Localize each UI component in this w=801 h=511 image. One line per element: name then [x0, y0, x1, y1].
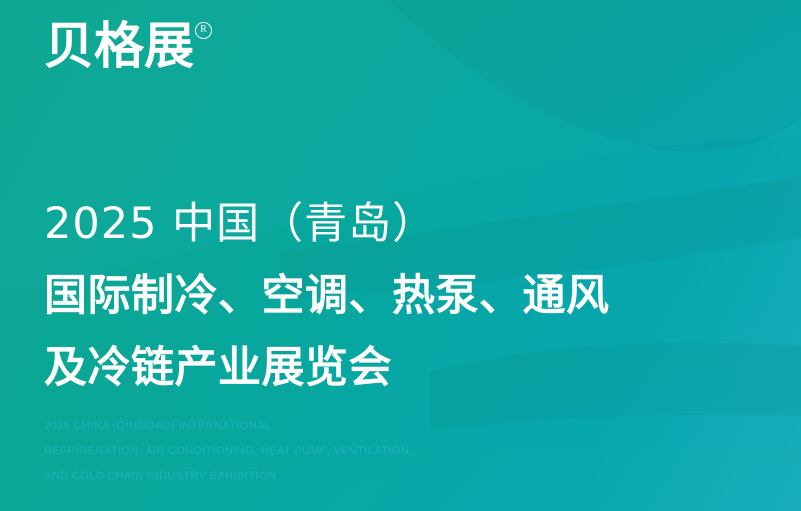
page-title-line-3: 及冷链产业展览会 — [44, 332, 744, 404]
page-subtitle-line-2: REFRIGERATION, AIR CONDITIONING, HEAT PU… — [44, 439, 764, 464]
registered-trademark-icon: R — [195, 22, 212, 39]
page-subtitle: 2025 CHINA (QINGDAO) INTERNATIONAL REFRI… — [44, 414, 764, 489]
page-title-line-1: 2025 中国（青岛） — [44, 188, 744, 260]
page-subtitle-line-3: AND COLD CHAIN INDUSTRY EXHIBITION — [44, 464, 764, 489]
brand-logo-text: 贝格展 — [44, 20, 194, 72]
exhibition-poster: 贝格展 R 2025 中国（青岛） 国际制冷、空调、热泵、通风 及冷链产业展览会… — [0, 0, 801, 511]
page-subtitle-line-1: 2025 CHINA (QINGDAO) INTERNATIONAL — [44, 414, 764, 439]
brand-logo[interactable]: 贝格展 R — [44, 20, 212, 72]
page-title-line-2: 国际制冷、空调、热泵、通风 — [44, 260, 744, 332]
wave-shape-top — [360, 0, 801, 152]
page-title: 2025 中国（青岛） 国际制冷、空调、热泵、通风 及冷链产业展览会 — [44, 188, 744, 404]
